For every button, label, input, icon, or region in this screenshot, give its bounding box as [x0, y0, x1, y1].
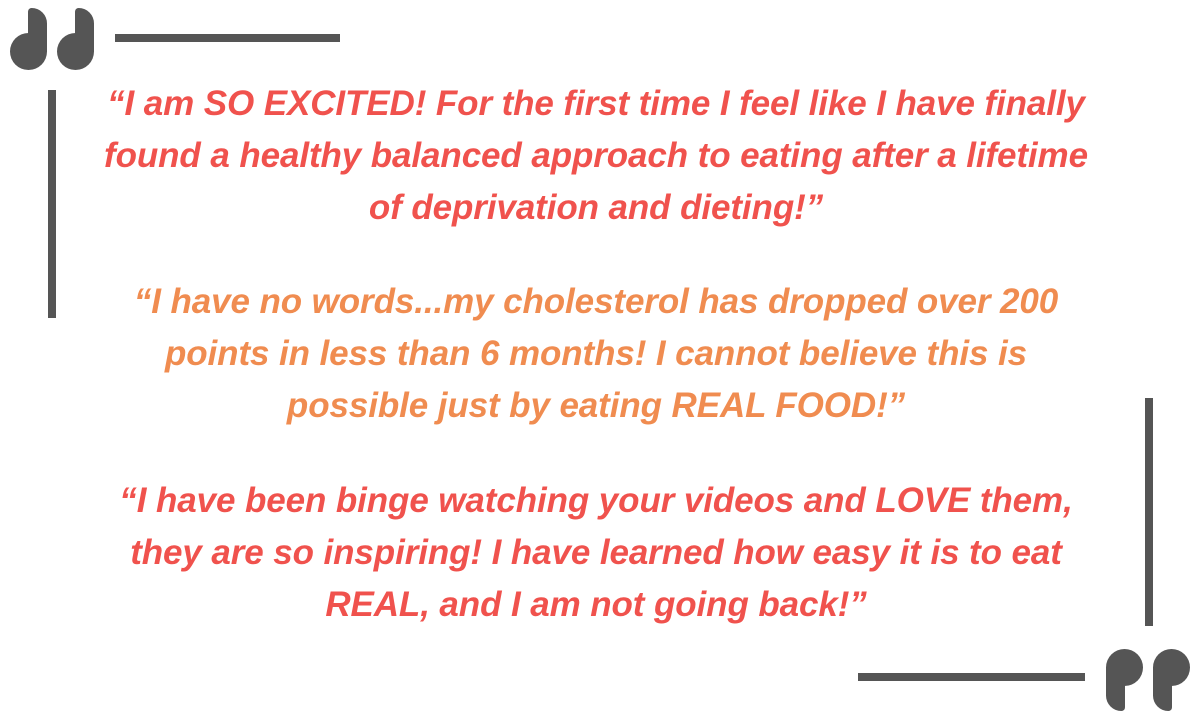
- testimonial-quote: “I have been binge watching your videos …: [96, 475, 1096, 631]
- open-quote-comma-left: [57, 8, 94, 70]
- close-quote-icon: [1106, 649, 1190, 711]
- close-quote-comma-left: [1106, 649, 1143, 711]
- testimonial-quote: “I am SO EXCITED! For the first time I f…: [96, 78, 1096, 234]
- right-vertical-rule: [1145, 398, 1153, 626]
- comma-tail: [75, 8, 94, 52]
- comma-tail: [28, 8, 47, 52]
- open-quote-comma-right: [10, 8, 47, 70]
- comma-tail: [1153, 667, 1172, 711]
- top-left-rule: [115, 34, 340, 42]
- testimonial-graphic: “I am SO EXCITED! For the first time I f…: [0, 0, 1200, 719]
- bottom-right-rule: [858, 673, 1085, 681]
- left-vertical-rule: [48, 90, 56, 318]
- testimonial-quote: “I have no words...my cholesterol has dr…: [96, 276, 1096, 432]
- close-quote-comma-right: [1153, 649, 1190, 711]
- open-quote-icon: [10, 8, 94, 70]
- testimonial-list: “I am SO EXCITED! For the first time I f…: [96, 78, 1096, 631]
- comma-tail: [1106, 667, 1125, 711]
